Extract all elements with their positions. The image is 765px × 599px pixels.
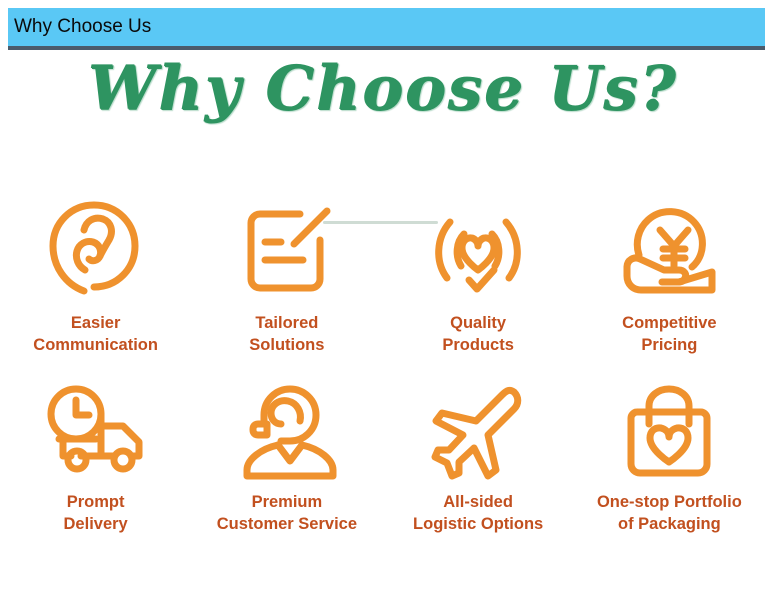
hero-section: Why Choose Us? Why Choose Us? xyxy=(0,58,765,173)
feature-item-quality-products[interactable]: Quality Products xyxy=(383,196,574,357)
shopping-bag-heart-icon xyxy=(619,381,719,483)
feature-label: Quality Products xyxy=(442,312,514,357)
page-title: Why Choose Us xyxy=(8,16,151,38)
feature-item-all-sided-logistic-options[interactable]: All-sided Logistic Options xyxy=(383,381,574,536)
hand-yuan-coin-icon xyxy=(617,196,721,304)
document-pen-icon xyxy=(239,196,335,304)
feature-row: Easier Communication Tailored Solutions xyxy=(0,196,765,357)
hero-wordmark: Why Choose Us? xyxy=(0,58,765,119)
headset-agent-icon xyxy=(234,381,340,483)
delivery-truck-clock-icon xyxy=(41,381,151,483)
header-bar: Why Choose Us xyxy=(8,8,765,50)
feature-label: Competitive Pricing xyxy=(622,312,716,357)
feature-item-competitive-pricing[interactable]: Competitive Pricing xyxy=(574,196,765,357)
hero-wordmark-reflection: Why Choose Us? xyxy=(0,124,765,164)
ear-listening-icon xyxy=(48,196,144,304)
feature-label: Tailored Solutions xyxy=(249,312,324,357)
heart-check-signal-icon xyxy=(428,196,528,304)
feature-item-prompt-delivery[interactable]: Prompt Delivery xyxy=(0,381,191,536)
feature-item-premium-customer-service[interactable]: Premium Customer Service xyxy=(191,381,382,536)
hero-wordmark-text: Why Choose Us? xyxy=(88,58,677,119)
feature-label: Premium Customer Service xyxy=(217,491,357,536)
feature-label: One-stop Portfolio of Packaging xyxy=(597,491,742,536)
feature-item-tailored-solutions[interactable]: Tailored Solutions xyxy=(191,196,382,357)
feature-item-easier-communication[interactable]: Easier Communication xyxy=(0,196,191,357)
feature-grid: Easier Communication Tailored Solutions xyxy=(0,196,765,536)
feature-item-one-stop-portfolio-of-packaging[interactable]: One-stop Portfolio of Packaging xyxy=(574,381,765,536)
feature-label: All-sided Logistic Options xyxy=(413,491,543,536)
feature-row: Prompt Delivery Premium Customer Service xyxy=(0,381,765,536)
feature-label: Prompt Delivery xyxy=(64,491,128,536)
feature-label: Easier Communication xyxy=(33,312,158,357)
airplane-icon xyxy=(428,381,528,483)
